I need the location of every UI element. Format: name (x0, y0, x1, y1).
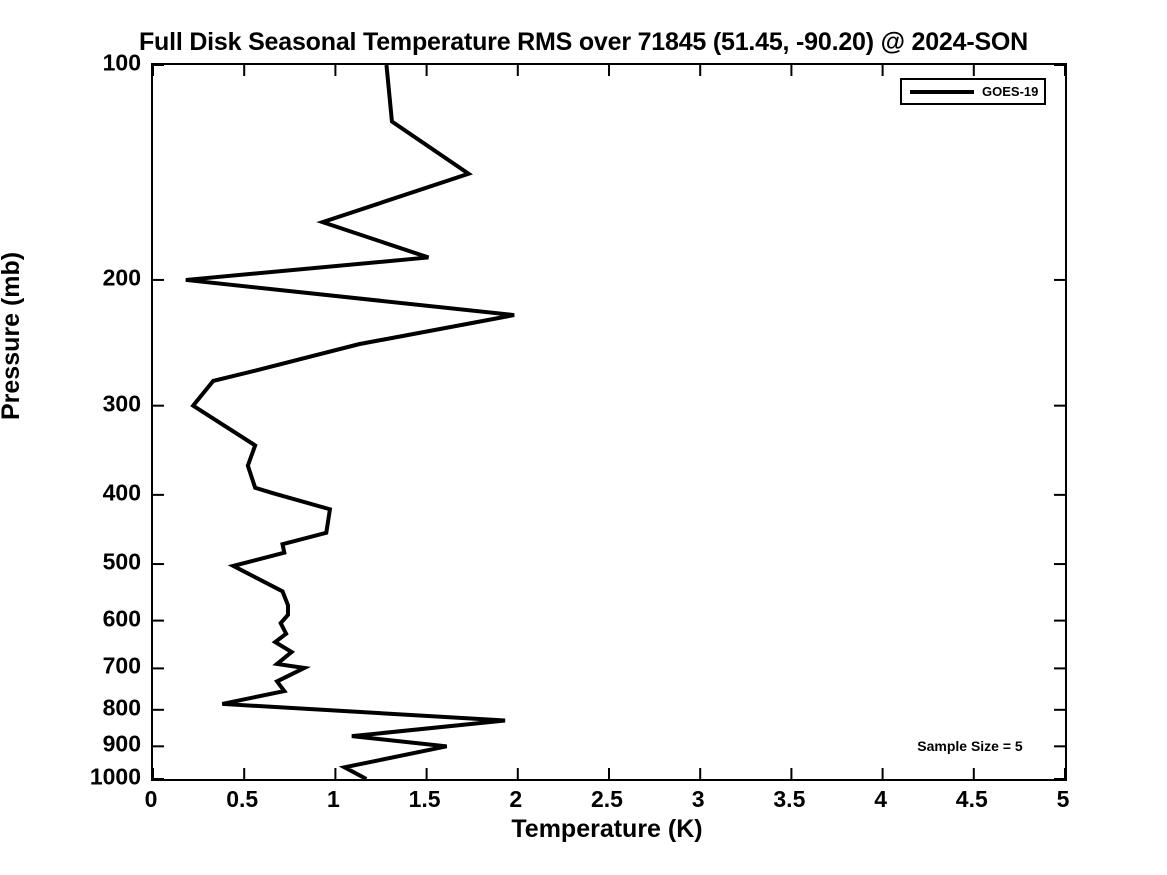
legend-line-swatch (910, 90, 974, 94)
y-tick-label: 300 (0, 390, 141, 417)
y-tick-label: 100 (0, 50, 141, 77)
x-tick-label: 2.5 (567, 786, 647, 813)
legend-label-goes-19: GOES-19 (982, 84, 1038, 99)
page-title: Full Disk Seasonal Temperature RMS over … (0, 28, 1167, 57)
x-tick-label: 1.5 (385, 786, 465, 813)
y-tick-label: 600 (0, 605, 141, 632)
x-tick-label: 3 (658, 786, 738, 813)
data-line-goes-19 (186, 65, 514, 779)
sample-size-annotation: Sample Size = 5 (880, 738, 1060, 754)
y-tick-label: 500 (0, 549, 141, 576)
y-tick-label: 900 (0, 731, 141, 758)
x-tick-label: 0.5 (202, 786, 282, 813)
y-tick-label: 700 (0, 653, 141, 680)
x-tick-label: 3.5 (749, 786, 829, 813)
chart-legend: GOES-19 (900, 78, 1046, 105)
data-line-canvas (153, 65, 1065, 779)
x-tick-label: 2 (476, 786, 556, 813)
y-tick-label: 800 (0, 694, 141, 721)
axis-ticks (153, 65, 1065, 779)
x-tick-label: 4.5 (932, 786, 1012, 813)
x-axis-label: Temperature (K) (151, 815, 1063, 844)
chart-figure: Full Disk Seasonal Temperature RMS over … (0, 0, 1167, 875)
plot-area (151, 63, 1067, 781)
y-tick-label: 400 (0, 479, 141, 506)
x-tick-label: 5 (1023, 786, 1103, 813)
x-tick-label: 4 (841, 786, 921, 813)
x-tick-label: 1 (293, 786, 373, 813)
y-tick-label: 200 (0, 264, 141, 291)
x-tick-label: 0 (111, 786, 191, 813)
